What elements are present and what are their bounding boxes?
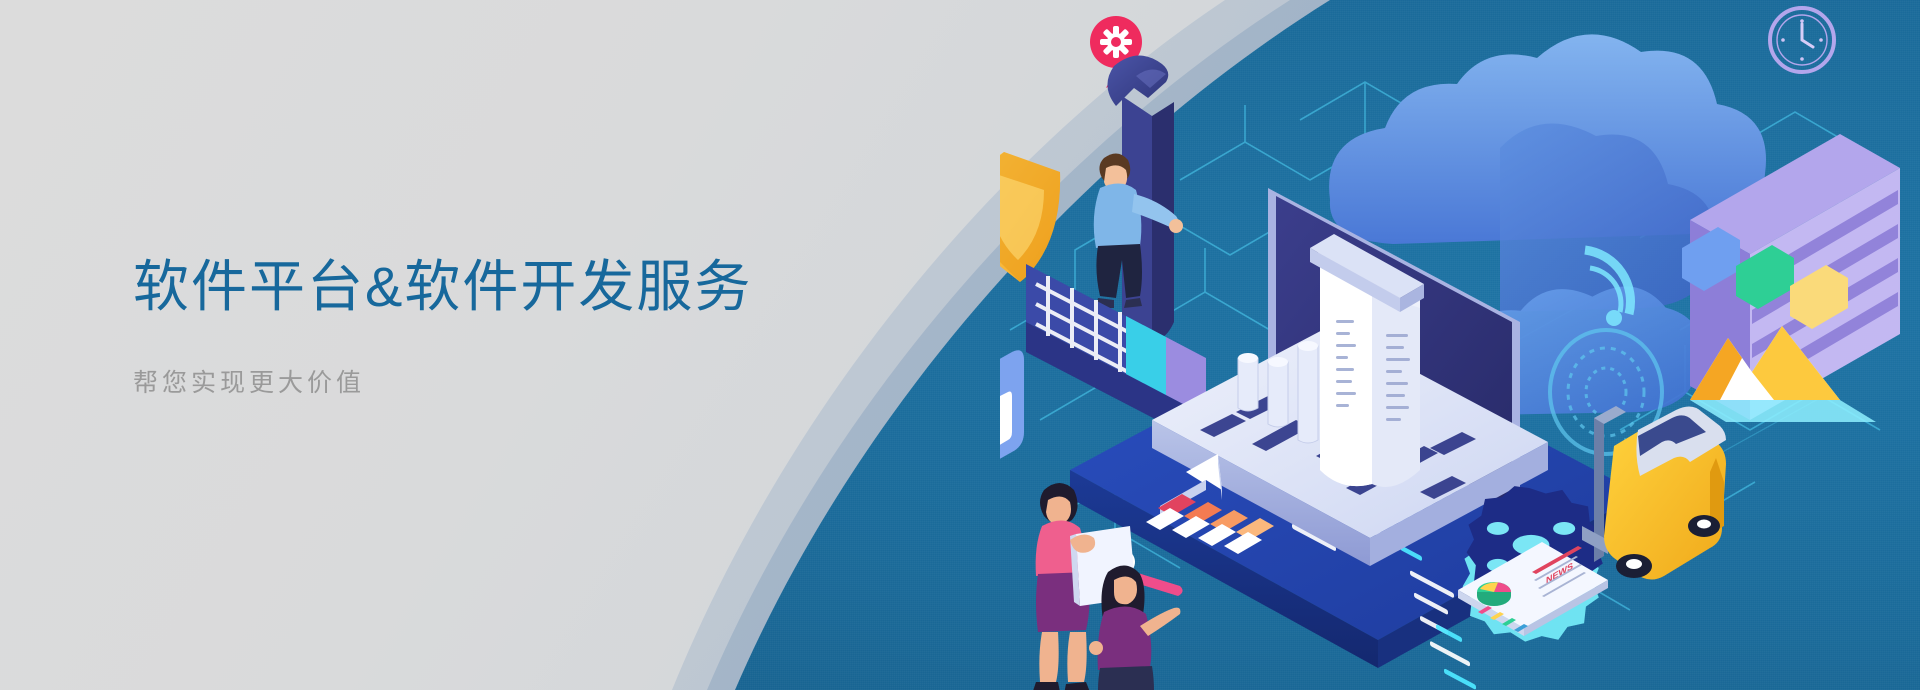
page-subtitle: 帮您实现更大价值 (133, 363, 893, 399)
kanban-board-panel (1682, 8, 1900, 422)
hero-copy: 软件平台&软件开发服务 帮您实现更大价值 (133, 255, 893, 399)
page-title: 软件平台&软件开发服务 (133, 255, 893, 319)
illustration-isometric-scene: NEWS (1000, 0, 1920, 690)
clock-icon (1770, 8, 1834, 72)
camera-icon (1000, 350, 1024, 488)
hero-banner: NEWS (0, 0, 1920, 690)
shield-icon (1000, 152, 1060, 282)
forklift-icon (1582, 406, 1726, 580)
